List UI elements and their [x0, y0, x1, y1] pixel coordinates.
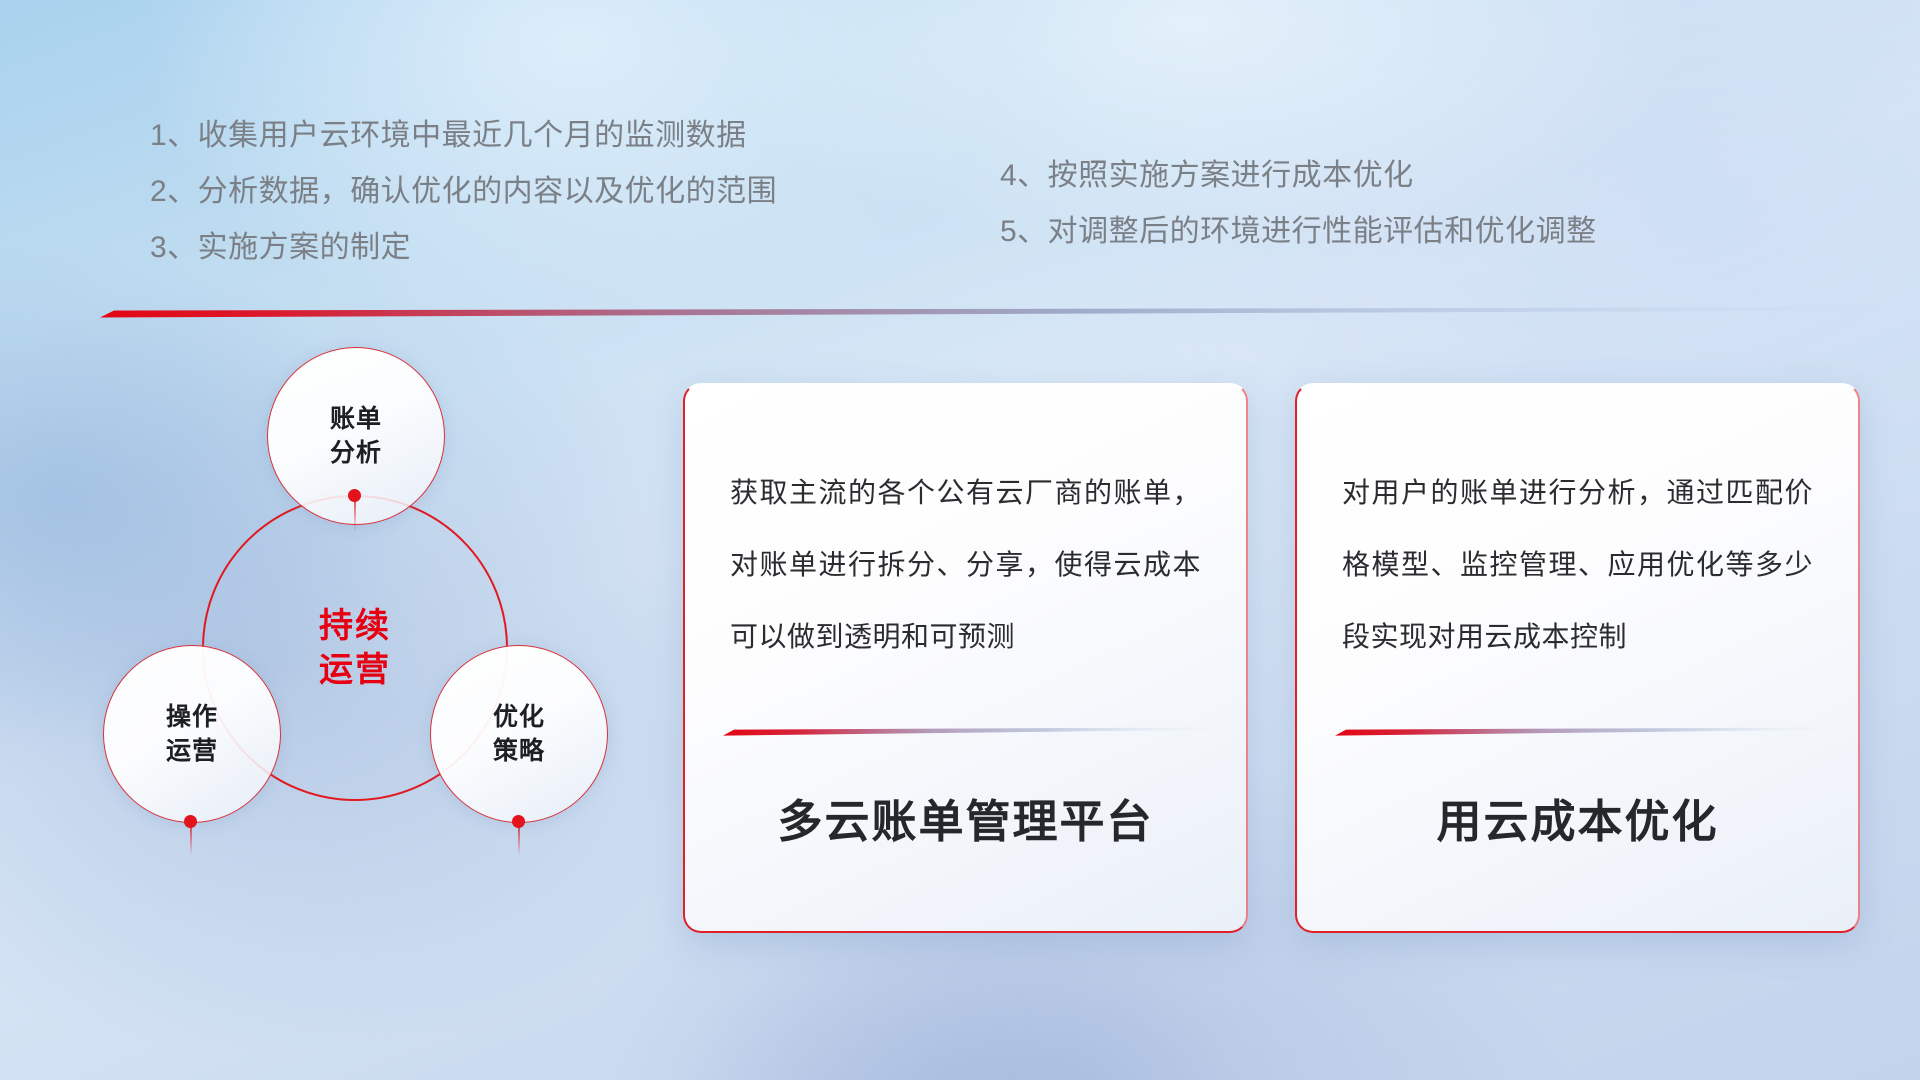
section-divider	[100, 307, 1890, 318]
card-1-description: 获取主流的各个公有云厂商的账单，对账单进行拆分、分享，使得云成本可以做到透明和可…	[730, 457, 1201, 673]
card-2-title: 用云成本优化	[1297, 785, 1858, 850]
connector-dot-top-icon	[348, 489, 361, 502]
connector-tail-top-icon	[354, 500, 356, 532]
card-multicloud-billing-platform[interactable]: 获取主流的各个公有云厂商的账单，对账单进行拆分、分享，使得云成本可以做到透明和可…	[683, 383, 1248, 933]
step-item-5: 5、对调整后的环境进行性能评估和优化调整	[1000, 204, 1597, 260]
card-2-description: 对用户的账单进行分析，通过匹配价格模型、监控管理、应用优化等多少段实现对用云成本…	[1342, 457, 1813, 673]
slide-canvas: 1、收集用户云环境中最近几个月的监测数据 2、分析数据，确认优化的内容以及优化的…	[0, 0, 1920, 1080]
connector-dot-left-icon	[184, 815, 197, 828]
card-2-rule	[1335, 727, 1824, 736]
card-1-rule	[723, 727, 1212, 736]
venn-center-label: 持续 运营	[202, 495, 508, 801]
connector-dot-right-icon	[512, 815, 525, 828]
process-steps-list: 1、收集用户云环境中最近几个月的监测数据 2、分析数据，确认优化的内容以及优化的…	[0, 0, 1920, 300]
step-item-4: 4、按照实施方案进行成本优化	[1000, 148, 1597, 204]
venn-lobe-bill-analysis-label: 账单 分析	[330, 402, 382, 470]
step-item-3: 3、实施方案的制定	[150, 220, 777, 276]
connector-tail-left-icon	[190, 826, 192, 856]
step-item-2: 2、分析数据，确认优化的内容以及优化的范围	[150, 164, 777, 220]
card-cloud-cost-optimization[interactable]: 对用户的账单进行分析，通过匹配价格模型、监控管理、应用优化等多少段实现对用云成本…	[1295, 383, 1860, 933]
steps-left-column: 1、收集用户云环境中最近几个月的监测数据 2、分析数据，确认优化的内容以及优化的…	[150, 108, 777, 276]
step-item-1: 1、收集用户云环境中最近几个月的监测数据	[150, 108, 777, 164]
steps-right-column: 4、按照实施方案进行成本优化 5、对调整后的环境进行性能评估和优化调整	[1000, 148, 1597, 260]
continuous-operation-diagram: 账单 分析 操作 运营 优化 策略 持续 运营	[95, 345, 640, 935]
connector-tail-right-icon	[518, 826, 520, 856]
card-1-title: 多云账单管理平台	[685, 785, 1246, 850]
